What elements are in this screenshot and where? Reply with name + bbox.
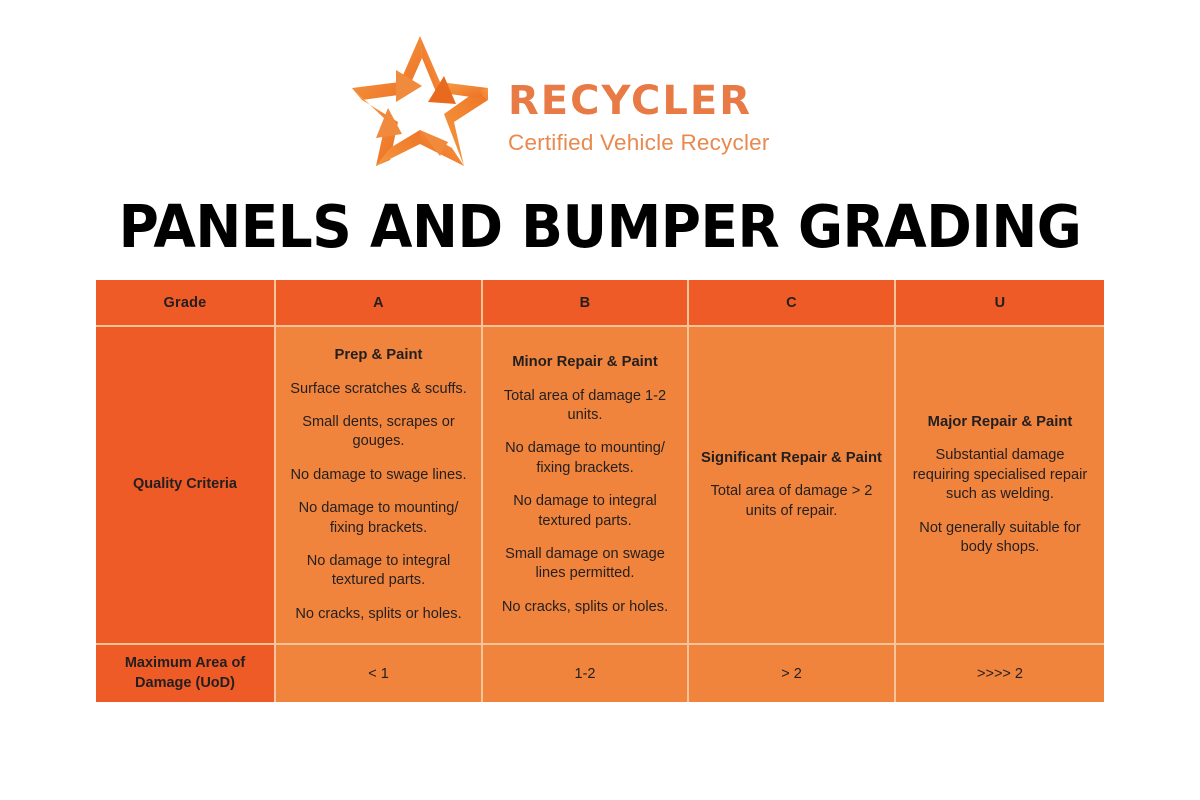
header-grade-u: U [896, 280, 1104, 327]
maximum-area-row: Maximum Area of Damage (UoD) < 1 1-2 > 2… [96, 645, 1104, 702]
criteria-line: No damage to integral textured parts. [286, 552, 471, 591]
criteria-line: No damage to mounting/ fixing brackets. [286, 499, 471, 538]
max-area-value-c: > 2 [689, 645, 896, 702]
criteria-heading-b: Minor Repair & Paint [493, 353, 677, 373]
criteria-line: No damage to swage lines. [286, 466, 471, 485]
header-grade-b: B [483, 280, 689, 327]
header-grade-a: A [276, 280, 483, 327]
row-label-quality-criteria: Quality Criteria [96, 327, 276, 645]
criteria-cell-grade-c: Significant Repair & Paint Total area of… [689, 327, 896, 645]
brand-logo: RECYCLER Certified Vehicle Recycler [340, 28, 770, 183]
quality-criteria-row: Quality Criteria Prep & Paint Surface sc… [96, 327, 1104, 645]
max-area-value-u: >>>> 2 [896, 645, 1104, 702]
criteria-cell-grade-b: Minor Repair & Paint Total area of damag… [483, 327, 689, 645]
criteria-line: No damage to integral textured parts. [493, 492, 677, 531]
max-area-value-b: 1-2 [483, 645, 689, 702]
page-title: PANELS AND BUMPER GRADING [42, 192, 1158, 261]
logo-title: RECYCLER [508, 81, 770, 121]
logo-wordmark: RECYCLER Certified Vehicle Recycler [508, 55, 770, 156]
poster-canvas: RECYCLER Certified Vehicle Recycler PANE… [0, 0, 1200, 800]
logo-subtitle: Certified Vehicle Recycler [508, 130, 770, 156]
criteria-line: Substantial damage requiring specialised… [906, 446, 1094, 504]
criteria-heading-u: Major Repair & Paint [906, 413, 1094, 433]
criteria-line: Total area of damage 1-2 units. [493, 387, 677, 426]
criteria-heading-a: Prep & Paint [286, 346, 471, 366]
criteria-cell-grade-u: Major Repair & Paint Substantial damage … [896, 327, 1104, 645]
criteria-line: No cracks, splits or holes. [286, 605, 471, 624]
criteria-line: Surface scratches & scuffs. [286, 380, 471, 399]
recycling-star-logo-icon [340, 30, 500, 182]
criteria-line: No damage to mounting/ fixing brackets. [493, 439, 677, 478]
criteria-line: Small damage on swage lines permitted. [493, 545, 677, 584]
max-area-value-a: < 1 [276, 645, 483, 702]
header-grade-c: C [689, 280, 896, 327]
panels-bumper-grading-table: Grade A B C U Quality Criteria Prep & Pa… [96, 280, 1104, 702]
criteria-line: Small dents, scrapes or gouges. [286, 413, 471, 452]
criteria-line: Total area of damage > 2 units of repair… [699, 482, 884, 521]
criteria-heading-c: Significant Repair & Paint [699, 449, 884, 469]
header-grade-label: Grade [96, 280, 276, 327]
criteria-line: Not generally suitable for body shops. [906, 519, 1094, 558]
criteria-line: No cracks, splits or holes. [493, 598, 677, 617]
row-label-maximum-area: Maximum Area of Damage (UoD) [96, 645, 276, 702]
table-header-row: Grade A B C U [96, 280, 1104, 327]
criteria-cell-grade-a: Prep & Paint Surface scratches & scuffs.… [276, 327, 483, 645]
